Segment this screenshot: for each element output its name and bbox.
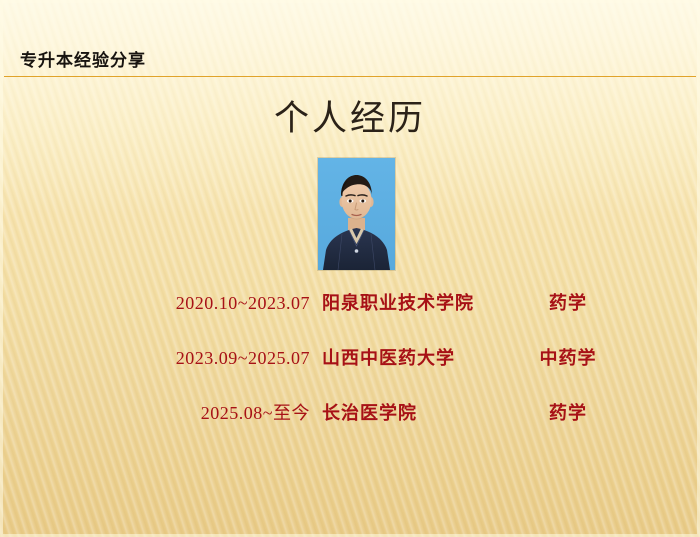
portrait-photo — [318, 158, 395, 270]
table-row: 2023.09~2025.07 山西中医药大学 中药学 — [0, 339, 700, 394]
header-divider-rule — [4, 76, 696, 77]
experience-school: 阳泉职业技术学院 — [322, 290, 474, 316]
page-title: 个人经历 — [0, 97, 700, 141]
slide-header-title: 专升本经验分享 — [20, 50, 146, 72]
experience-date: 2025.08~至今 — [0, 400, 310, 426]
table-row: 2025.08~至今 长治医学院 药学 — [0, 394, 700, 449]
experience-table: 2020.10~2023.07 阳泉职业技术学院 药学 2023.09~2025… — [0, 284, 700, 449]
table-row: 2020.10~2023.07 阳泉职业技术学院 药学 — [0, 284, 700, 339]
portrait-photo-illustration — [318, 158, 395, 270]
experience-major: 药学 — [498, 290, 638, 316]
presentation-slide: 专升本经验分享 个人经历 — [0, 0, 700, 537]
experience-major: 药学 — [498, 400, 638, 426]
experience-date: 2023.09~2025.07 — [0, 345, 310, 371]
experience-major: 中药学 — [498, 345, 638, 371]
experience-school: 长治医学院 — [322, 400, 417, 426]
experience-school: 山西中医药大学 — [322, 345, 455, 371]
experience-date: 2020.10~2023.07 — [0, 290, 310, 316]
